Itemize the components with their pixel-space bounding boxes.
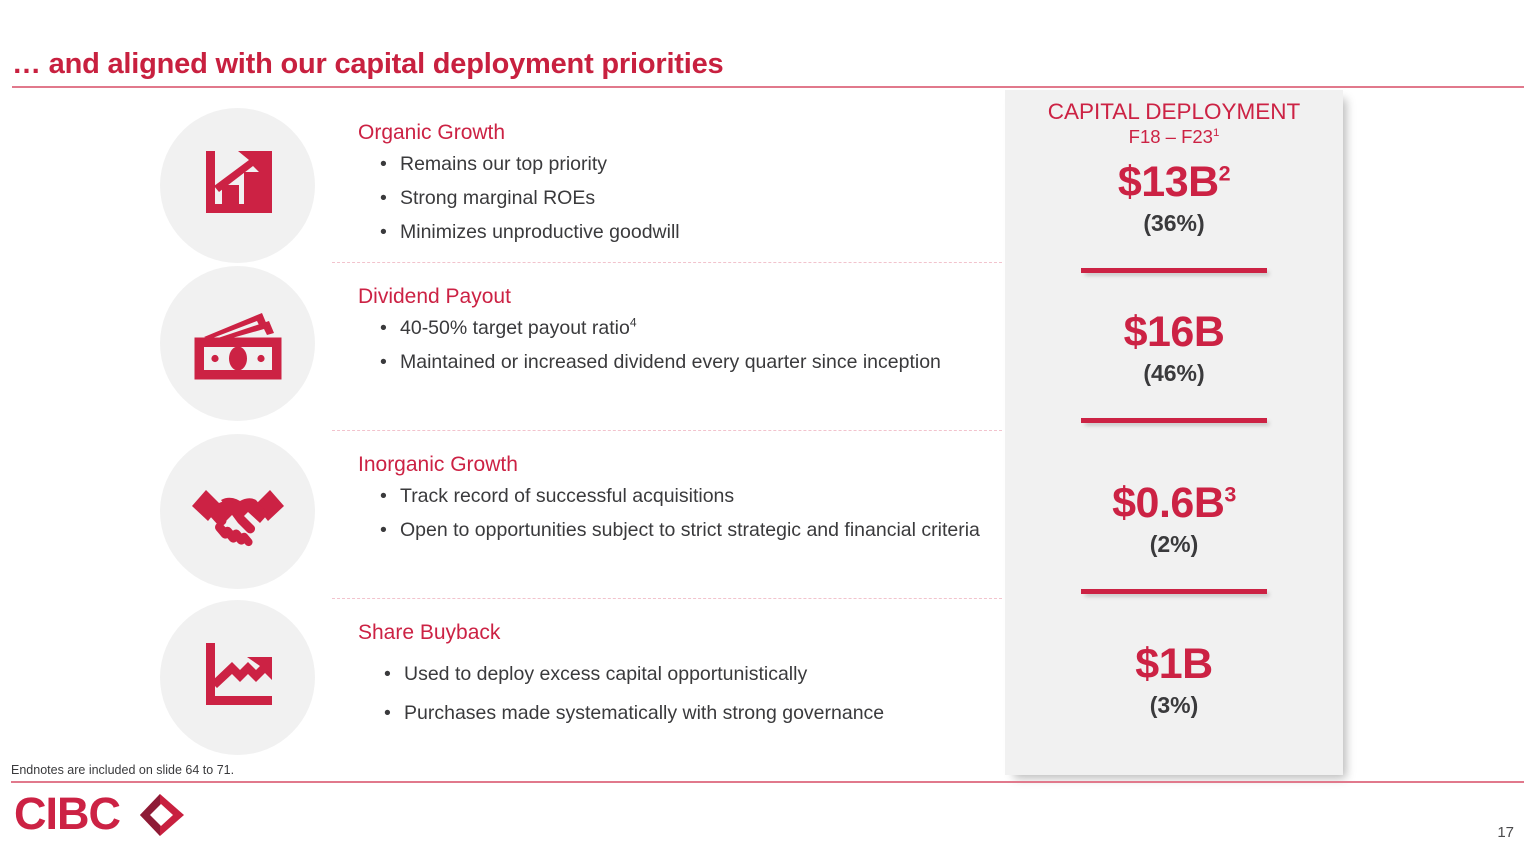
list-item: •Used to deploy excess capital opportuni…: [358, 662, 998, 687]
page-number: 17: [1497, 824, 1514, 841]
bullet-dot: •: [384, 662, 391, 687]
list-item: •40-50% target payout ratio4: [358, 316, 998, 341]
metric-organic-growth: $13B2 (36%): [1005, 158, 1343, 238]
list-item: •Remains our top priority: [358, 152, 998, 177]
priority-heading: Organic Growth: [358, 120, 998, 146]
priority-row: Organic Growth •Remains our top priority…: [0, 100, 1005, 260]
capital-deployment-panel: CAPITAL DEPLOYMENT F18 – F231 $13B2 (36%…: [1005, 90, 1343, 775]
bullet-text: Maintained or increased dividend every q…: [400, 351, 941, 373]
priority-bullets: •Remains our top priority •Strong margin…: [358, 152, 998, 245]
list-item: •Track record of successful acquisitions: [358, 484, 998, 509]
metric-share: (36%): [1005, 210, 1343, 238]
metric-inorganic-growth: $0.6B3 (2%): [1005, 479, 1343, 559]
bullet-text: Open to opportunities subject to strict …: [400, 519, 980, 541]
priority-heading: Inorganic Growth: [358, 452, 998, 478]
list-item: •Minimizes unproductive goodwill: [358, 220, 998, 245]
bullet-text: Remains our top priority: [400, 153, 607, 175]
bullet-dot: •: [384, 701, 391, 726]
bullet-text: Strong marginal ROEs: [400, 187, 595, 209]
bullet-text: Purchases made systematically with stron…: [404, 702, 884, 724]
priority-text-block: Inorganic Growth •Track record of succes…: [358, 452, 998, 543]
bullet-text: Used to deploy excess capital opportunis…: [404, 663, 807, 685]
metric-amount: $16B: [1124, 308, 1225, 356]
bullet-text: Minimizes unproductive goodwill: [400, 221, 680, 243]
section-divider: [332, 430, 1002, 431]
list-item: •Purchases made systematically with stro…: [358, 701, 998, 726]
cibc-logo: CIBC: [14, 791, 190, 839]
bullet-text: Track record of successful acquisitions: [400, 485, 734, 507]
bullet-dot: •: [380, 350, 387, 375]
metric-value: $0.6B3: [1005, 479, 1343, 527]
metric-share-buyback: $1B (3%): [1005, 640, 1343, 720]
bullet-dot: •: [380, 152, 387, 177]
priority-row: Dividend Payout •40-50% target payout ra…: [0, 264, 1005, 428]
metric-share: (3%): [1005, 692, 1343, 720]
icon-badge-share-buyback: [160, 600, 315, 755]
metric-separator: [1081, 418, 1267, 423]
priority-text-block: Organic Growth •Remains our top priority…: [358, 120, 998, 245]
metric-share: (2%): [1005, 531, 1343, 559]
list-item: •Strong marginal ROEs: [358, 186, 998, 211]
page-title: … and aligned with our capital deploymen…: [12, 48, 723, 81]
metric-amount: $1B: [1135, 640, 1212, 688]
metric-dividend-payout: $16B (46%): [1005, 308, 1343, 388]
metric-separator: [1081, 589, 1267, 594]
bullet-dot: •: [380, 484, 387, 509]
metric-value: $16B: [1005, 308, 1343, 356]
metric-amount: $0.6B: [1112, 479, 1224, 527]
section-divider: [332, 598, 1002, 599]
priority-row: Share Buyback •Used to deploy excess cap…: [0, 600, 1005, 760]
panel-subtitle-text: F18 – F23: [1129, 126, 1213, 147]
bullet-dot: •: [380, 220, 387, 245]
svg-text:CIBC: CIBC: [14, 791, 120, 839]
priority-text-block: Share Buyback •Used to deploy excess cap…: [358, 620, 998, 726]
metric-separator: [1081, 268, 1267, 273]
footer-divider: [11, 781, 1524, 783]
panel-title: CAPITAL DEPLOYMENT: [1005, 99, 1343, 124]
priority-bullets: •40-50% target payout ratio4 •Maintained…: [358, 316, 998, 375]
bullet-dot: •: [380, 186, 387, 211]
section-divider: [332, 262, 1002, 263]
title-divider: [12, 86, 1524, 88]
banknotes-icon: [190, 306, 286, 382]
metric-amount: $13B: [1118, 158, 1219, 206]
footnote-marker: 3: [1224, 483, 1235, 507]
bullet-text: 40-50% target payout ratio: [400, 317, 630, 339]
line-chart-growth-icon: [195, 635, 281, 721]
panel-subtitle: F18 – F231: [1005, 126, 1343, 147]
icon-badge-inorganic-growth: [160, 434, 315, 589]
priorities-list: Organic Growth •Remains our top priority…: [0, 96, 1005, 756]
footnote-marker: 4: [630, 316, 637, 330]
bullet-dot: •: [380, 316, 387, 341]
icon-badge-organic-growth: [160, 108, 315, 263]
metric-value: $13B2: [1005, 158, 1343, 206]
footnote-marker: 2: [1219, 162, 1230, 186]
bullet-dot: •: [380, 518, 387, 543]
list-item: •Open to opportunities subject to strict…: [358, 518, 998, 543]
priority-heading: Dividend Payout: [358, 284, 998, 310]
priority-bullets: •Used to deploy excess capital opportuni…: [358, 662, 998, 726]
priority-heading: Share Buyback: [358, 620, 998, 646]
priority-bullets: •Track record of successful acquisitions…: [358, 484, 998, 543]
footnote-marker: 1: [1213, 127, 1219, 139]
priority-text-block: Dividend Payout •40-50% target payout ra…: [358, 284, 998, 375]
bar-chart-growth-icon: [195, 143, 281, 229]
handshake-icon: [188, 476, 288, 548]
metric-share: (46%): [1005, 360, 1343, 388]
icon-badge-dividend-payout: [160, 266, 315, 421]
priority-row: Inorganic Growth •Track record of succes…: [0, 432, 1005, 596]
list-item: •Maintained or increased dividend every …: [358, 350, 998, 375]
endnote-text: Endnotes are included on slide 64 to 71.: [11, 763, 234, 777]
metric-value: $1B: [1005, 640, 1343, 688]
